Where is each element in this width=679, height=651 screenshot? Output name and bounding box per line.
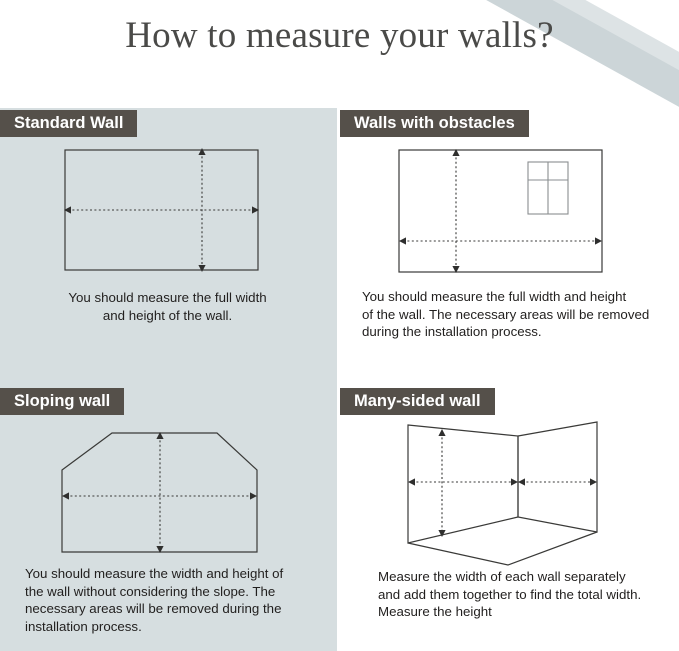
figure-standard-wall — [40, 140, 270, 280]
figure-sloping-wall — [40, 420, 270, 565]
window-obstacle-icon — [528, 162, 568, 214]
caption-standard-wall: You should measure the full width and he… — [30, 289, 305, 324]
figure-walls-with-obstacles — [385, 142, 610, 282]
section-banner-standard-wall: Standard Wall — [0, 110, 137, 137]
section-banner-sloping-wall: Sloping wall — [0, 388, 124, 415]
caption-walls-with-obstacles: You should measure the full width and he… — [362, 288, 662, 341]
infographic-page: How to measure your walls? Standard Wall… — [0, 0, 679, 651]
page-title: How to measure your walls? — [0, 14, 679, 57]
caption-sloping-wall: You should measure the width and height … — [25, 565, 315, 635]
figure-many-sided-wall — [385, 412, 615, 577]
section-banner-many-sided-wall: Many-sided wall — [340, 388, 495, 415]
caption-many-sided-wall: Measure the width of each wall separatel… — [378, 568, 668, 621]
section-banner-walls-with-obstacles: Walls with obstacles — [340, 110, 529, 137]
